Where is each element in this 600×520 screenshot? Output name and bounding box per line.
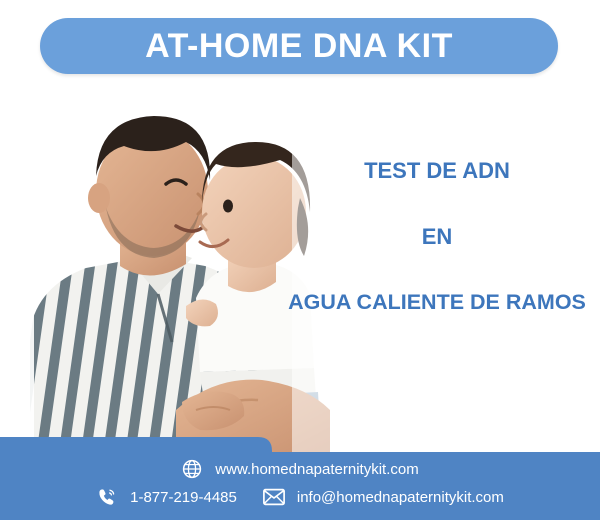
footer-website-row: www.homednapaternitykit.com xyxy=(0,458,600,480)
email-contact-item[interactable]: info@homednapaternitykit.com xyxy=(263,486,504,508)
headline-line-3: AGUA CALIENTE DE RAMOS xyxy=(274,292,600,314)
phone-icon xyxy=(96,486,118,508)
website-contact-item[interactable]: www.homednapaternitykit.com xyxy=(181,458,418,480)
headline-line-1: TEST DE ADN xyxy=(274,160,600,182)
footer-contact-bar: www.homednapaternitykit.com 1-877-219-44… xyxy=(0,430,600,520)
headline-block: TEST DE ADN EN AGUA CALIENTE DE RAMOS xyxy=(274,160,600,314)
headline-line-2: EN xyxy=(274,226,600,248)
email-address-text: info@homednapaternitykit.com xyxy=(297,490,504,505)
at-home-dna-kit-banner: AT-HOME DNA KIT xyxy=(0,0,600,520)
envelope-icon xyxy=(263,486,285,508)
phone-contact-item[interactable]: 1-877-219-4485 xyxy=(96,486,237,508)
footer-phone-email-row: 1-877-219-4485 info@homednapaternitykit.… xyxy=(0,486,600,508)
website-url-text: www.homednapaternitykit.com xyxy=(215,462,418,477)
phone-number-text: 1-877-219-4485 xyxy=(130,490,237,505)
title-pill-badge: AT-HOME DNA KIT xyxy=(40,18,558,74)
page-title: AT-HOME DNA KIT xyxy=(145,29,453,63)
globe-icon xyxy=(181,458,203,480)
